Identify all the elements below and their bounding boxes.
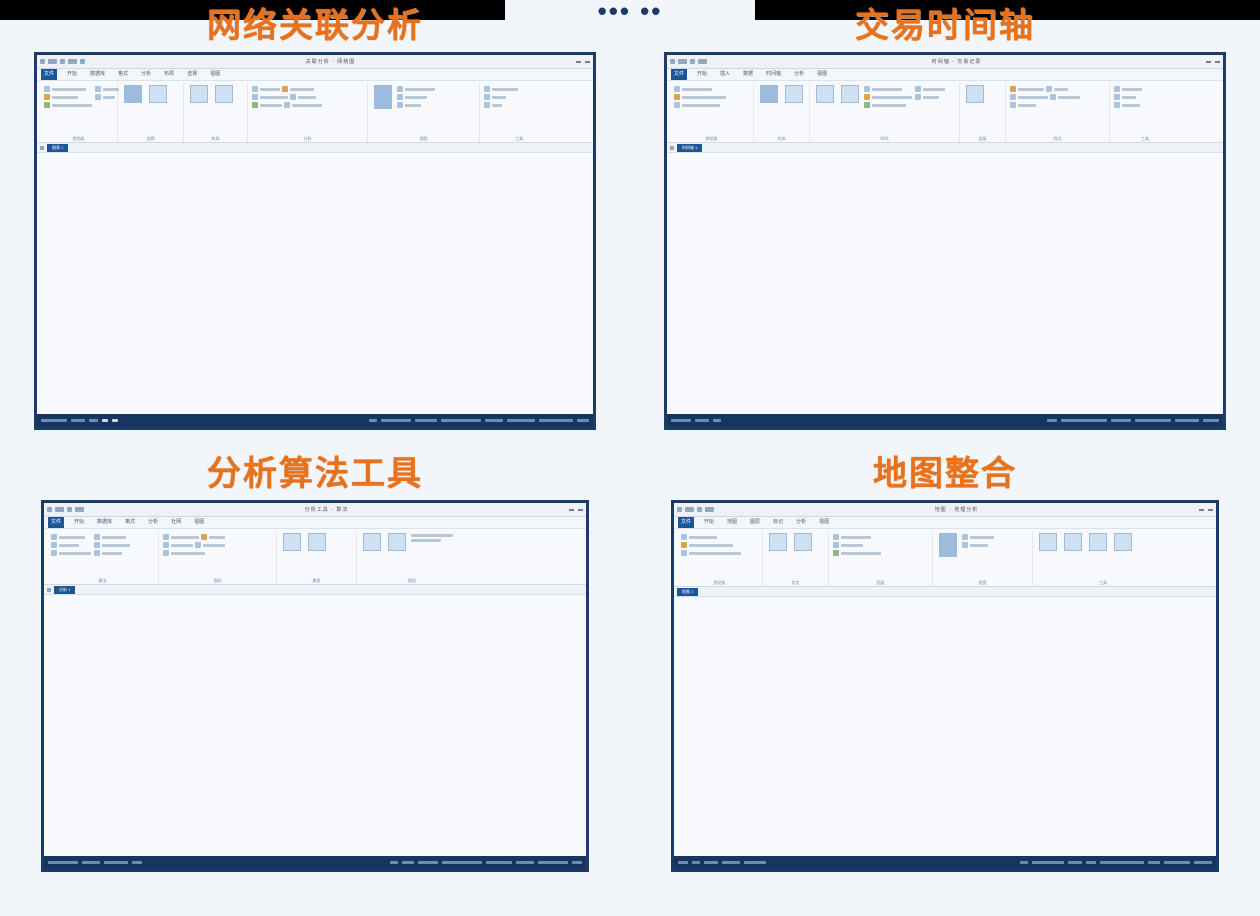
panel-network-association-analysis: 网络关联分析 关联分析 - 网络图 文件 开始 数据库 格式 分析 布局 选择 … — [0, 0, 630, 448]
ribbon-group-label-t1: 实体 — [758, 136, 805, 142]
window-controls-map[interactable] — [1199, 509, 1213, 511]
ribbon-tab-m2[interactable]: 地图 — [724, 517, 740, 528]
titlebar-timeline: 时间轴 - 交易记录 — [667, 55, 1223, 69]
ribbon-tab-m1[interactable]: 开始 — [701, 517, 717, 528]
ribbon-tab-m3[interactable]: 图层 — [747, 517, 763, 528]
ribbon-big-button-arrange — [213, 85, 235, 119]
view-icon[interactable] — [374, 85, 392, 109]
ribbon-group-select[interactable]: 选择 — [118, 83, 184, 142]
ribbon-group-label-a0: 算法 — [51, 578, 154, 584]
ribbon-tab-a0[interactable]: 文件 — [48, 517, 64, 528]
ribbon-group-t0[interactable]: 剪贴板 — [670, 83, 754, 142]
qat-icon-open-2[interactable] — [698, 59, 707, 64]
statusbar-analysis — [44, 856, 586, 869]
statusbar-map — [674, 856, 1216, 869]
ribbon-big-button-layout — [188, 85, 210, 119]
qat-icon-undo-2[interactable] — [678, 59, 687, 64]
ribbon-tab-t2[interactable]: 插入 — [717, 69, 733, 80]
panel-transaction-timeline: 交易时间轴 时间轴 - 交易记录 文件 开始 插入 数据 时间轴 分析 视图 — [630, 0, 1260, 448]
qat-icon-save-2[interactable] — [670, 59, 675, 64]
ribbon-group-label-5: 工具 — [484, 136, 554, 142]
ribbon-tab-a3[interactable]: 格式 — [122, 517, 138, 528]
cluster-icon[interactable] — [283, 533, 301, 551]
ribbon-group-label-a2: 聚类 — [281, 578, 352, 584]
statusbar-network — [37, 414, 593, 427]
ribbon-map[interactable]: 剪贴板 定位 图层 — [674, 529, 1216, 587]
path-icon[interactable] — [149, 85, 167, 103]
qat-icon-undo-4[interactable] — [685, 507, 694, 512]
ribbon-group-t3[interactable]: 连接 — [960, 83, 1006, 142]
connect-icon[interactable] — [966, 85, 984, 103]
window-controls-network[interactable] — [576, 61, 590, 63]
doc-tabbar-analysis[interactable]: 分析 1 — [44, 585, 586, 595]
link-icon[interactable] — [785, 85, 803, 103]
panel-analysis-algorithm-tools: 分析算法工具 分析工具 - 算法 文件 开始 数据库 格式 分析 社网 视图 — [0, 448, 630, 896]
zoom-in-icon[interactable] — [1064, 533, 1082, 551]
ribbon-group-layout[interactable]: 布局 — [184, 83, 248, 142]
qat-icon-redo[interactable] — [60, 59, 65, 64]
refresh-icon[interactable] — [841, 85, 859, 103]
doc-icon-3 — [47, 588, 51, 592]
ribbon-group-clipboard[interactable]: 剪贴板 — [40, 83, 118, 142]
ribbon-group-m0[interactable]: 剪贴板 — [677, 531, 763, 586]
ribbon-group-label-t4: 样式 — [1010, 136, 1105, 142]
ribbon-tab-7[interactable]: 视图 — [207, 69, 223, 80]
ribbon-tabs-network[interactable]: 文件 开始 数据库 格式 分析 布局 选择 视图 — [37, 69, 593, 81]
basemap-icon[interactable] — [939, 533, 957, 557]
group-icon[interactable] — [308, 533, 326, 551]
qat-icon-undo[interactable] — [48, 59, 57, 64]
clock-icon[interactable] — [816, 85, 834, 103]
ribbon-group-m3[interactable]: 底图 — [933, 531, 1033, 586]
arrange-icon[interactable] — [215, 85, 233, 103]
ribbon-tab-t0[interactable]: 文件 — [671, 69, 687, 80]
ribbon-group-label-a1: 指标 — [163, 578, 272, 584]
panel-map-integration: 地图整合 地图 - 地理分析 文件 开始 地图 图层 标记 分析 视图 — [630, 448, 1260, 896]
titlebar-map: 地图 - 地理分析 — [674, 503, 1216, 517]
shortest-path-icon[interactable] — [363, 533, 381, 551]
ribbon-tab-a4[interactable]: 分析 — [145, 517, 161, 528]
ribbon-group-analysis[interactable]: 分析 — [248, 83, 368, 142]
ribbon-tab-0[interactable]: 文件 — [41, 69, 57, 80]
layout-icon[interactable] — [190, 85, 208, 103]
qat-icon-redo-3[interactable] — [67, 507, 72, 512]
ribbon-group-label-2: 布局 — [188, 136, 243, 142]
ribbon-group-m4[interactable]: 工具 — [1033, 531, 1173, 586]
panel-grid: 网络关联分析 关联分析 - 网络图 文件 开始 数据库 格式 分析 布局 选择 … — [0, 0, 1260, 916]
ribbon-tabs-analysis[interactable]: 文件 开始 数据库 格式 分析 社网 视图 — [44, 517, 586, 529]
ribbon-group-m2[interactable]: 图层 — [829, 531, 933, 586]
ribbon-tab-a6[interactable]: 视图 — [191, 517, 207, 528]
ribbon-tab-t6[interactable]: 视图 — [814, 69, 830, 80]
ribbon-tab-m5[interactable]: 分析 — [793, 517, 809, 528]
panel-title-analysis: 分析算法工具 — [0, 448, 630, 500]
ribbon-tab-1[interactable]: 开始 — [64, 69, 80, 80]
ribbon-analysis[interactable]: 算法 指标 — [44, 529, 586, 585]
doc-tabbar-map[interactable]: 地图 1 — [674, 587, 1216, 597]
ribbon-tab-t5[interactable]: 分析 — [791, 69, 807, 80]
qat-icon-open[interactable] — [68, 59, 77, 64]
undo-view-icon[interactable] — [1114, 533, 1132, 551]
ribbon-group-a3[interactable]: 路径 — [357, 531, 467, 584]
qat-icon-undo-3[interactable] — [55, 507, 64, 512]
ribbon-network[interactable]: 剪贴板 选择 布局 — [37, 81, 593, 143]
ribbon-group-m1[interactable]: 定位 — [763, 531, 829, 586]
ribbon-tabs-timeline[interactable]: 文件 开始 插入 数据 时间轴 分析 视图 — [667, 69, 1223, 81]
ribbon-tab-m0[interactable]: 文件 — [678, 517, 694, 528]
window-title-map: 地图 - 地理分析 — [717, 506, 1196, 513]
ribbon-group-t4[interactable]: 样式 — [1006, 83, 1110, 142]
window-analysis[interactable]: 分析工具 - 算法 文件 开始 数据库 格式 分析 社网 视图 — [41, 500, 589, 872]
ribbon-tab-5[interactable]: 布局 — [161, 69, 177, 80]
ribbon-group-label-m3: 底图 — [937, 580, 1028, 586]
panel-title-network: 网络关联分析 — [0, 0, 630, 52]
window-controls-timeline[interactable] — [1206, 61, 1220, 63]
rotate-icon[interactable] — [1089, 533, 1107, 551]
ribbon-group-tools[interactable]: 工具 — [480, 83, 558, 142]
ribbon-tab-t4[interactable]: 时间轴 — [763, 69, 784, 80]
ribbon-group-t2[interactable]: 时间 — [810, 83, 960, 142]
pin-icon[interactable] — [794, 533, 812, 551]
window-title-network: 关联分析 - 网络图 — [88, 58, 573, 65]
ribbon-timeline[interactable]: 剪贴板 实体 — [667, 81, 1223, 143]
ribbon-tab-a1[interactable]: 开始 — [71, 517, 87, 528]
statusbar-timeline — [667, 414, 1223, 427]
flow-icon[interactable] — [388, 533, 406, 551]
ribbon-tab-6[interactable]: 选择 — [184, 69, 200, 80]
doc-tabbar-network[interactable]: 图表 1 — [37, 143, 593, 153]
ribbon-group-a0[interactable]: 算法 — [47, 531, 159, 584]
ribbon-group-a2[interactable]: 聚类 — [277, 531, 357, 584]
qat-icon-open-4[interactable] — [705, 507, 714, 512]
qat-icon-redo-4[interactable] — [697, 507, 702, 512]
ribbon-tab-a2[interactable]: 数据库 — [94, 517, 115, 528]
qat-icon-save-4[interactable] — [677, 507, 682, 512]
panel-title-timeline: 交易时间轴 — [630, 0, 1260, 52]
ribbon-big-button-path — [147, 85, 169, 119]
ribbon-group-label-4: 视图 — [372, 136, 475, 142]
doc-tab-map[interactable]: 地图 1 — [677, 588, 698, 596]
ribbon-group-label-m4: 工具 — [1037, 580, 1169, 586]
ribbon-group-label-m2: 图层 — [833, 580, 928, 586]
doc-icon-2 — [670, 146, 674, 150]
ribbon-tab-3[interactable]: 格式 — [115, 69, 131, 80]
ribbon-group-label-m1: 定位 — [767, 580, 824, 586]
doc-icon — [40, 146, 44, 150]
ribbon-big-button-view — [372, 85, 394, 119]
ribbon-tab-a5[interactable]: 社网 — [168, 517, 184, 528]
ribbon-group-label-t5: 工具 — [1114, 136, 1176, 142]
ribbon-tab-m4[interactable]: 标记 — [770, 517, 786, 528]
doc-tab-timeline[interactable]: 时间轴 1 — [677, 144, 702, 152]
ribbon-tab-t1[interactable]: 开始 — [694, 69, 710, 80]
window-map[interactable]: 地图 - 地理分析 文件 开始 地图 图层 标记 分析 视图 — [671, 500, 1219, 872]
doc-tab-analysis[interactable]: 分析 1 — [54, 586, 75, 594]
ribbon-group-label-a3: 路径 — [361, 578, 463, 584]
ribbon-tab-2[interactable]: 数据库 — [87, 69, 108, 80]
window-title-analysis: 分析工具 - 算法 — [87, 506, 566, 513]
ribbon-group-t5[interactable]: 工具 — [1110, 83, 1180, 142]
ribbon-tabs-map[interactable]: 文件 开始 地图 图层 标记 分析 视图 — [674, 517, 1216, 529]
qat-icon-redo-2[interactable] — [690, 59, 695, 64]
ribbon-group-label-t0: 剪贴板 — [674, 136, 749, 142]
ribbon-tab-m6[interactable]: 视图 — [816, 517, 832, 528]
window-network[interactable]: 关联分析 - 网络图 文件 开始 数据库 格式 分析 布局 选择 视图 — [34, 52, 596, 430]
pan-icon[interactable] — [1039, 533, 1057, 551]
doc-tabbar-timeline[interactable]: 时间轴 1 — [667, 143, 1223, 153]
ribbon-group-a1[interactable]: 指标 — [159, 531, 277, 584]
qat-icon-print[interactable] — [80, 59, 85, 64]
ribbon-group-label-m0: 剪贴板 — [681, 580, 758, 586]
doc-tab-network[interactable]: 图表 1 — [47, 144, 68, 152]
titlebar-analysis: 分析工具 - 算法 — [44, 503, 586, 517]
entity-icon[interactable] — [760, 85, 778, 103]
ribbon-tab-t3[interactable]: 数据 — [740, 69, 756, 80]
ribbon-group-label-t3: 连接 — [964, 136, 1001, 142]
ribbon-big-button-select — [122, 85, 144, 119]
ribbon-group-label-0: 剪贴板 — [44, 136, 113, 142]
ribbon-group-view[interactable]: 视图 — [368, 83, 480, 142]
ribbon-group-label-1: 选择 — [122, 136, 179, 142]
locate-icon[interactable] — [769, 533, 787, 551]
ribbon-group-label-3: 分析 — [252, 136, 363, 142]
ribbon-group-t1[interactable]: 实体 — [754, 83, 810, 142]
titlebar-network: 关联分析 - 网络图 — [37, 55, 593, 69]
qat-icon-open-3[interactable] — [75, 507, 84, 512]
select-icon[interactable] — [124, 85, 142, 103]
window-title-timeline: 时间轴 - 交易记录 — [710, 58, 1203, 65]
ribbon-tab-4[interactable]: 分析 — [138, 69, 154, 80]
window-timeline[interactable]: 时间轴 - 交易记录 文件 开始 插入 数据 时间轴 分析 视图 — [664, 52, 1226, 430]
ribbon-group-label-t2: 时间 — [814, 136, 955, 142]
panel-title-map: 地图整合 — [630, 448, 1260, 500]
qat-icon-save-3[interactable] — [47, 507, 52, 512]
window-controls-analysis[interactable] — [569, 509, 583, 511]
qat-icon-save[interactable] — [40, 59, 45, 64]
